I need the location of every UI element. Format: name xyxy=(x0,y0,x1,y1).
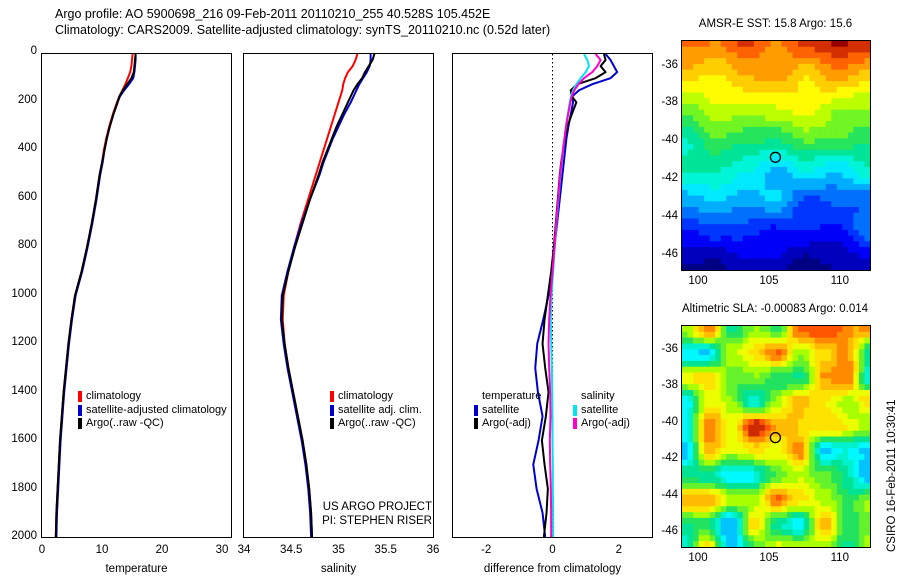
legend-heading-row: salinity xyxy=(573,390,630,404)
axis-tick-label: 105 xyxy=(749,552,789,564)
axis-tick-label: -40 xyxy=(650,416,678,428)
panel-difference[interactable] xyxy=(452,53,653,538)
legend-difference-temperature: temperature satellite Argo(-adj) xyxy=(474,390,541,431)
sla-heatmap xyxy=(682,326,870,547)
panel-temperature[interactable] xyxy=(41,53,232,538)
axis-tick-label: -42 xyxy=(650,172,678,184)
salinity-axis-label: salinity xyxy=(243,563,434,575)
legend-swatch-climatology xyxy=(78,391,82,402)
legend-swatch-satellite xyxy=(78,405,82,416)
title-line-1: Argo profile: AO 5900698_216 09-Feb-2011… xyxy=(55,6,695,22)
legend-swatch-temperature-satellite xyxy=(474,405,478,416)
axis-tick-label: 10 xyxy=(82,544,122,556)
legend-label: satellite xyxy=(482,404,519,418)
legend-swatch-temperature-argo xyxy=(474,418,478,429)
legend-item: climatology xyxy=(330,390,422,404)
legend-heading: temperature xyxy=(474,390,541,404)
temperature-profile-plot xyxy=(42,54,231,537)
axis-tick-label: 110 xyxy=(820,552,860,564)
legend-item: Argo(-adj) xyxy=(573,417,630,431)
difference-profile-plot xyxy=(453,54,652,537)
axis-tick-label: -40 xyxy=(650,134,678,146)
axis-tick-label: -46 xyxy=(650,248,678,260)
legend-item: Argo(-adj) xyxy=(474,417,541,431)
legend-swatch-satellite xyxy=(330,405,334,416)
axis-tick-label: -44 xyxy=(650,210,678,222)
axis-tick-label: 100 xyxy=(678,552,718,564)
axis-tick-label: 34 xyxy=(224,544,264,556)
legend-label: Argo(..raw -QC) xyxy=(338,417,416,431)
sla-map-title: Altimetric SLA: -0.00083 Argo: 0.014 xyxy=(660,303,890,315)
legend-swatch-salinity-satellite xyxy=(573,405,577,416)
legend-item: climatology xyxy=(78,390,227,404)
legend-item: Argo(..raw -QC) xyxy=(330,417,422,431)
legend-item: satellite-adjusted climatology xyxy=(78,404,227,418)
axis-tick-label: 35.5 xyxy=(366,544,406,556)
axis-tick-label: 34.5 xyxy=(271,544,311,556)
legend-label: satellite-adjusted climatology xyxy=(86,404,227,418)
legend-label: climatology xyxy=(338,390,393,404)
credit-line-1: US ARGO PROJECT xyxy=(274,500,432,514)
axis-tick-label: 0 xyxy=(0,45,37,57)
legend-label: climatology xyxy=(86,390,141,404)
legend-label: Argo(-adj) xyxy=(482,417,531,431)
legend-label: Argo(..raw -QC) xyxy=(86,417,164,431)
axis-tick-label: 105 xyxy=(749,275,789,287)
legend-swatch-argo xyxy=(330,418,334,429)
axis-tick-label: 36 xyxy=(413,544,453,556)
axis-tick-label: 110 xyxy=(820,275,860,287)
axis-tick-label: -44 xyxy=(650,489,678,501)
axis-tick-label: 1000 xyxy=(0,288,37,300)
axis-tick-label: -2 xyxy=(466,544,506,556)
axis-tick-label: 2 xyxy=(599,544,639,556)
axis-tick-label: 1200 xyxy=(0,336,37,348)
legend-difference-salinity: salinity satellite Argo(-adj) xyxy=(573,390,630,431)
axis-tick-label: -42 xyxy=(650,452,678,464)
axis-tick-label: 1600 xyxy=(0,433,37,445)
axis-tick-label: -46 xyxy=(650,525,678,537)
credit-line-2: PI: STEPHEN RISER xyxy=(274,514,432,528)
axis-tick-label: 2000 xyxy=(0,530,37,542)
axis-tick-label: 0 xyxy=(533,544,573,556)
axis-tick-label: 200 xyxy=(0,94,37,106)
salinity-profile-plot xyxy=(244,54,433,537)
legend-item: satellite xyxy=(573,404,630,418)
csiro-timestamp: CSIRO 16-Feb-2011 10:30:41 xyxy=(886,399,898,552)
axis-tick-label: -36 xyxy=(650,59,678,71)
temperature-axis-label: temperature xyxy=(41,563,232,575)
legend-label: satellite xyxy=(581,404,618,418)
difference-axis-label: difference from climatology xyxy=(442,563,663,575)
axis-tick-label: 35 xyxy=(319,544,359,556)
legend-swatch-climatology xyxy=(330,391,334,402)
axis-tick-label: 1400 xyxy=(0,385,37,397)
figure-title: Argo profile: AO 5900698_216 09-Feb-2011… xyxy=(55,6,695,38)
axis-tick-label: 100 xyxy=(678,275,718,287)
legend-item: satellite xyxy=(474,404,541,418)
axis-tick-label: 400 xyxy=(0,142,37,154)
map-sst[interactable] xyxy=(681,40,871,271)
map-sla[interactable] xyxy=(681,325,871,548)
legend-label: satellite adj. clim. xyxy=(338,404,422,418)
legend-swatch-salinity-argo xyxy=(573,418,577,429)
axis-tick-label: -38 xyxy=(650,96,678,108)
legend-swatch-argo xyxy=(78,418,82,429)
legend-item: satellite adj. clim. xyxy=(330,404,422,418)
axis-tick-label: 20 xyxy=(142,544,182,556)
sst-heatmap xyxy=(682,41,870,270)
legend-temperature: climatology satellite-adjusted climatolo… xyxy=(78,390,227,431)
legend-heading: salinity xyxy=(573,390,615,404)
axis-tick-label: 0 xyxy=(22,544,62,556)
figure-canvas: Argo profile: AO 5900698_216 09-Feb-2011… xyxy=(0,0,900,580)
legend-salinity: climatology satellite adj. clim. Argo(..… xyxy=(330,390,422,431)
title-line-2: Climatology: CARS2009. Satellite-adjuste… xyxy=(55,22,695,38)
axis-tick-label: 800 xyxy=(0,239,37,251)
legend-item: Argo(..raw -QC) xyxy=(78,417,227,431)
axis-tick-label: -36 xyxy=(650,343,678,355)
project-credit: US ARGO PROJECT PI: STEPHEN RISER xyxy=(274,500,432,528)
panel-salinity[interactable] xyxy=(243,53,434,538)
axis-tick-label: 1800 xyxy=(0,482,37,494)
legend-heading-row: temperature xyxy=(474,390,541,404)
legend-label: Argo(-adj) xyxy=(581,417,630,431)
axis-tick-label: 600 xyxy=(0,191,37,203)
sst-map-title: AMSR-E SST: 15.8 Argo: 15.6 xyxy=(668,18,883,30)
axis-tick-label: -38 xyxy=(650,379,678,391)
